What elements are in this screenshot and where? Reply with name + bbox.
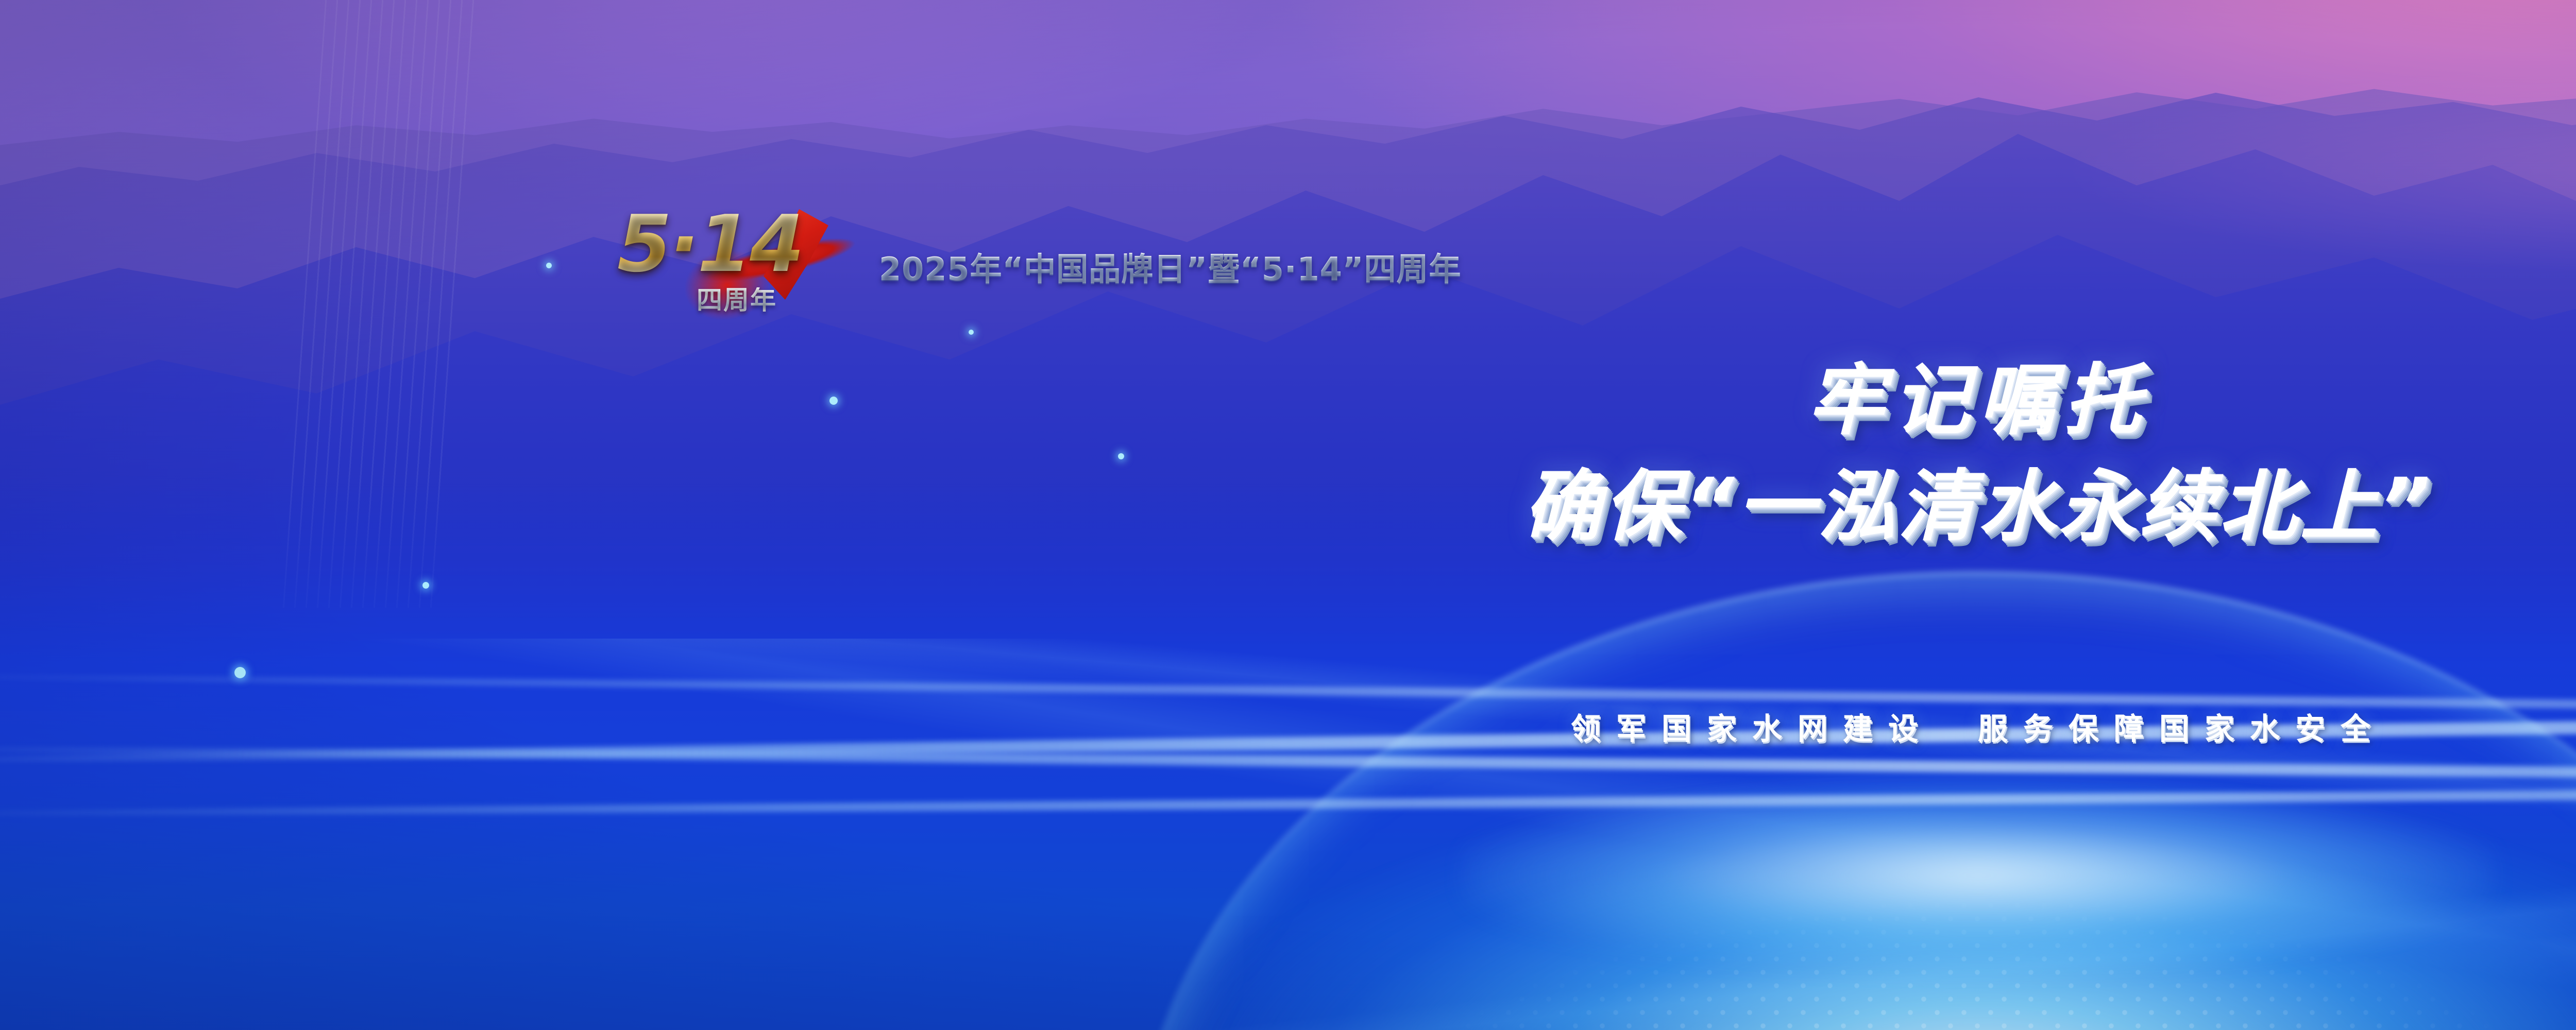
light-particle: [546, 263, 552, 268]
light-particle: [422, 582, 429, 589]
subtitle-right: 服务保障国家水安全: [1978, 711, 2386, 746]
event-title: 2025年“中国品牌日”暨“5·14”四周年: [879, 243, 1462, 289]
subtitle-row: 领军国家水网建设服务保障国家水安全: [0, 705, 2576, 748]
main-title-line-2: 确保“一泓清水永续北上”: [1523, 467, 2433, 548]
main-title: 牢记嘱托 确保“一泓清水永续北上”: [0, 360, 2576, 547]
anniversary-logo: 5·14 四周年: [613, 202, 855, 331]
light-particle: [234, 667, 246, 678]
anniversary-date: 5·14: [617, 205, 802, 283]
subtitle-left: 领军国家水网建设: [1571, 711, 1934, 746]
header-row: 5·14 四周年 2025年“中国品牌日”暨“5·14”四周年: [613, 202, 1875, 331]
main-title-line-1: 牢记嘱托: [1807, 360, 2149, 442]
anniversary-label: 四周年: [697, 287, 777, 313]
banner-stage: 5·14 四周年 2025年“中国品牌日”暨“5·14”四周年: [0, 0, 2576, 1030]
glow-dome-halo: [1463, 783, 2494, 968]
